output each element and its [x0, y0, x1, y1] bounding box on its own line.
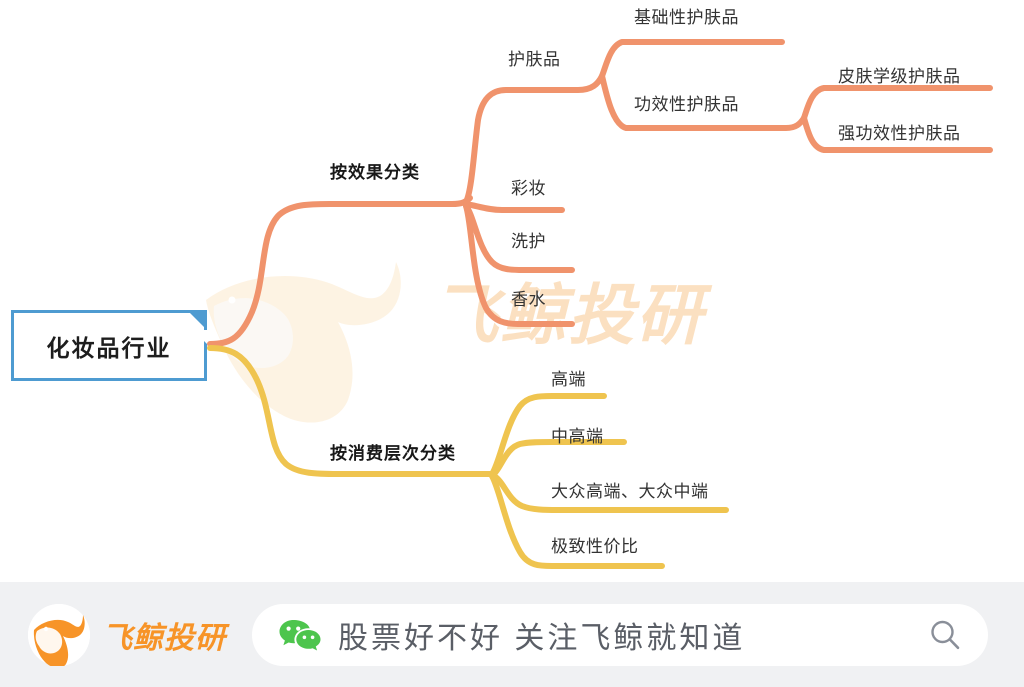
- footer-bar: 飞鲸投研 股票好不好 关注飞鲸就知道: [0, 582, 1024, 687]
- whale-watermark-icon: [198, 252, 448, 427]
- mindmap-canvas: 飞鲸投研: [0, 0, 1024, 582]
- root-node-label: 化妆品行业: [47, 329, 172, 363]
- search-icon[interactable]: [928, 618, 962, 652]
- node-mass-high-and-mid[interactable]: 大众高端、大众中端: [551, 483, 709, 500]
- node-strong-functional-skincare[interactable]: 强功效性护肤品: [838, 125, 961, 142]
- node-wash-care[interactable]: 洗护: [511, 233, 546, 250]
- wechat-icon: [278, 618, 322, 652]
- node-skincare[interactable]: 护肤品: [508, 51, 561, 68]
- wechat-promo-searchbar[interactable]: 股票好不好 关注飞鲸就知道: [252, 604, 988, 666]
- brand-name: 飞鲸投研: [102, 613, 226, 657]
- branch-title-effect[interactable]: 按效果分类: [330, 164, 420, 181]
- brand-block[interactable]: 飞鲸投研: [28, 604, 226, 666]
- node-dermatological-skincare[interactable]: 皮肤学级护肤品: [838, 68, 961, 85]
- node-functional-skincare[interactable]: 功效性护肤品: [634, 96, 739, 113]
- node-high-end[interactable]: 高端: [551, 371, 586, 388]
- mindmap-screenshot: 飞鲸投研: [0, 0, 1024, 687]
- node-makeup[interactable]: 彩妆: [511, 180, 546, 197]
- branch-title-consumption[interactable]: 按消费层次分类: [330, 445, 456, 462]
- watermark-text: 飞鲸投研: [432, 262, 704, 358]
- promo-text: 股票好不好 关注飞鲸就知道: [338, 613, 918, 657]
- node-mid-high-end[interactable]: 中高端: [551, 428, 604, 445]
- root-node[interactable]: 化妆品行业: [11, 310, 207, 381]
- node-perfume[interactable]: 香水: [511, 291, 546, 308]
- node-extreme-value[interactable]: 极致性价比: [551, 538, 639, 555]
- node-basic-skincare[interactable]: 基础性护肤品: [634, 9, 739, 26]
- corner-fold-icon: [187, 310, 207, 330]
- whale-logo-icon: [28, 604, 90, 666]
